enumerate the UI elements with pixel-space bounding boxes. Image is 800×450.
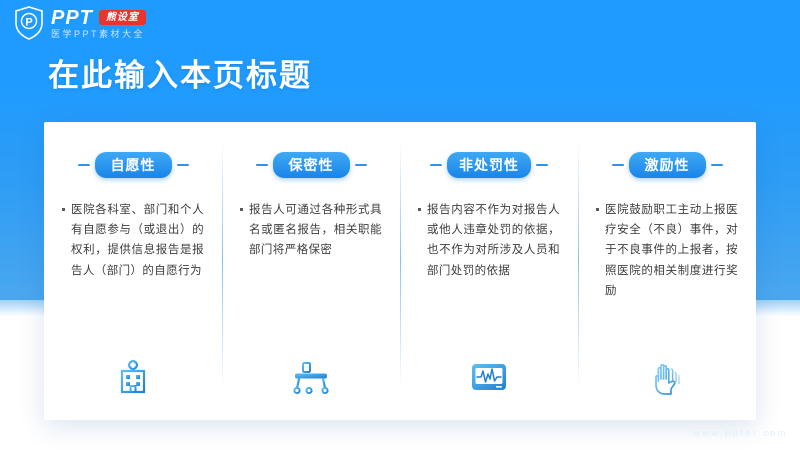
brand-tagline: 医学PPT素材大全 (51, 30, 146, 39)
dash-left-icon (430, 164, 442, 166)
column-body: 报告人可通过各种形式具名或匿名报告，相关职能部门将严格保密 (230, 200, 392, 260)
column-heading-group: 保密性 (230, 152, 392, 178)
dash-left-icon (256, 164, 268, 166)
footer-watermark: www.ppter.com (693, 428, 788, 438)
column-voluntary: 自愿性 医院各科室、部门和个人有自愿参与（或退出）的权利，提供信息报告是报告人（… (44, 122, 222, 420)
bullet-icon (62, 208, 65, 211)
column-body: 报告内容不作为对报告人或他人违章处罚的依据，也不作为对所涉及人员和部门处罚的依据 (408, 200, 570, 281)
content-card: 自愿性 医院各科室、部门和个人有自愿参与（或退出）的权利，提供信息报告是报告人（… (44, 122, 756, 420)
brand-badge: 熊设室 (99, 10, 146, 25)
bullet-icon (596, 208, 599, 211)
column-body-text: 医院鼓励职工主动上报医疗安全（不良）事件，对于不良事件的上报者，按照医院的相关制… (605, 200, 738, 301)
column-body: 医院各科室、部门和个人有自愿参与（或退出）的权利，提供信息报告是报告人（部门）的… (52, 200, 214, 281)
column-heading-pill: 激励性 (629, 152, 706, 178)
bullet-icon (418, 208, 421, 211)
column-incentive: 激励性 医院鼓励职工主动上报医疗安全（不良）事件，对于不良事件的上报者，按照医院… (578, 122, 756, 420)
column-heading-group: 非处罚性 (408, 152, 570, 178)
ecg-monitor-icon (400, 358, 578, 398)
column-non-punitive: 非处罚性 报告内容不作为对报告人或他人违章处罚的依据，也不作为对所涉及人员和部门… (400, 122, 578, 420)
dash-left-icon (78, 164, 90, 166)
column-body-text: 医院各科室、部门和个人有自愿参与（或退出）的权利，提供信息报告是报告人（部门）的… (71, 200, 204, 281)
bullet-icon (240, 208, 243, 211)
dash-right-icon (177, 164, 189, 166)
brand-wordmark: PPT (51, 8, 93, 28)
column-body-text: 报告内容不作为对报告人或他人违章处罚的依据，也不作为对所涉及人员和部门处罚的依据 (427, 200, 560, 281)
column-body: 医院鼓励职工主动上报医疗安全（不良）事件，对于不良事件的上报者，按照医院的相关制… (586, 200, 748, 301)
hospital-bed-icon (222, 358, 400, 398)
column-body-text: 报告人可通过各种形式具名或匿名报告，相关职能部门将严格保密 (249, 200, 382, 260)
dash-right-icon (355, 164, 367, 166)
dash-right-icon (711, 164, 723, 166)
medical-glove-icon (578, 358, 756, 398)
column-heading-pill: 保密性 (273, 152, 350, 178)
brand-logo: P PPT 熊设室 医学PPT素材大全 (14, 6, 146, 40)
column-heading-group: 激励性 (586, 152, 748, 178)
hospital-building-icon (44, 358, 222, 398)
slide: P PPT 熊设室 医学PPT素材大全 在此输入本页标题 自愿性 医院各科室、部… (0, 0, 800, 450)
dash-left-icon (612, 164, 624, 166)
column-heading-pill: 非处罚性 (447, 152, 531, 178)
svg-text:P: P (25, 17, 32, 29)
shield-icon: P (14, 6, 44, 40)
column-heading-pill: 自愿性 (95, 152, 172, 178)
page-title: 在此输入本页标题 (48, 57, 312, 96)
column-confidential: 保密性 报告人可通过各种形式具名或匿名报告，相关职能部门将严格保密 (222, 122, 400, 420)
dash-right-icon (536, 164, 548, 166)
column-heading-group: 自愿性 (52, 152, 214, 178)
